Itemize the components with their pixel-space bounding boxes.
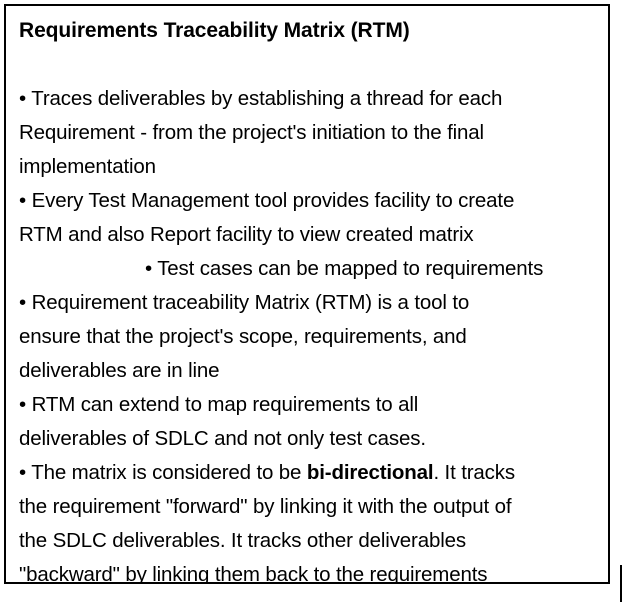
- body-line-12-emphasis: bi-directional: [307, 461, 434, 484]
- slide-title: Requirements Traceability Matrix (RTM): [19, 14, 606, 48]
- slide-frame: Requirements Traceability Matrix (RTM) •…: [4, 4, 610, 584]
- body-line-12-suffix: . It tracks: [433, 461, 515, 484]
- body-line-12: • The matrix is considered to be bi-dire…: [19, 456, 606, 490]
- page-edge-tick: [620, 565, 622, 602]
- body-line-1: • Traces deliverables by establishing a …: [19, 82, 606, 116]
- body-line-3: implementation: [19, 150, 606, 184]
- body-line-2: Requirement - from the project's initiat…: [19, 116, 606, 150]
- slide-content: Requirements Traceability Matrix (RTM) •…: [19, 14, 606, 582]
- body-line-4: • Every Test Management tool provides fa…: [19, 184, 606, 218]
- body-line-9: deliverables are in line: [19, 354, 606, 388]
- title-body-spacer: [19, 48, 606, 82]
- body-line-7: • Requirement traceability Matrix (RTM) …: [19, 286, 606, 320]
- body-line-6: • Test cases can be mapped to requiremen…: [19, 252, 606, 286]
- body-line-14: the SDLC deliverables. It tracks other d…: [19, 524, 606, 558]
- body-line-10: • RTM can extend to map requirements to …: [19, 388, 606, 422]
- body-line-13: the requirement "forward" by linking it …: [19, 490, 606, 524]
- body-line-12-prefix: • The matrix is considered to be: [19, 461, 307, 484]
- body-line-8: ensure that the project's scope, require…: [19, 320, 606, 354]
- body-line-15: "backward" by linking them back to the r…: [19, 558, 606, 584]
- body-line-11: deliverables of SDLC and not only test c…: [19, 422, 606, 456]
- body-line-5: RTM and also Report facility to view cre…: [19, 218, 606, 252]
